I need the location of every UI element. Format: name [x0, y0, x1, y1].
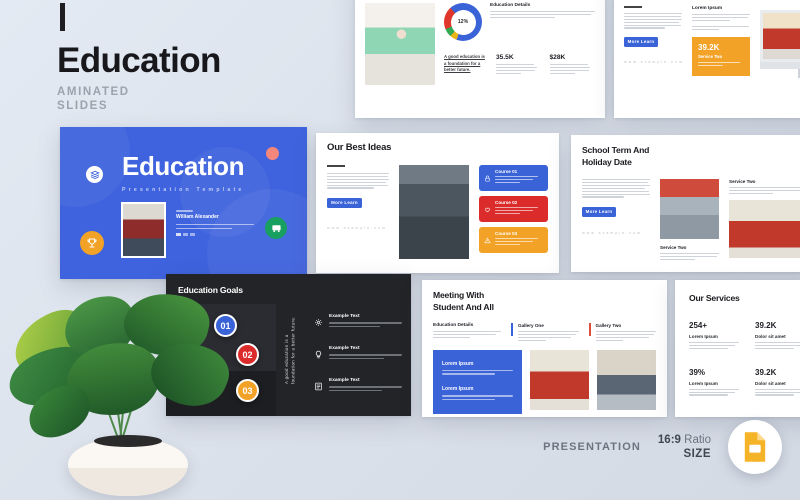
course-label: Course 03: [495, 231, 543, 236]
school-term-photo: [660, 179, 719, 239]
school-term-service-text: [660, 253, 719, 260]
school-term-service-text: [729, 187, 800, 194]
best-ideas-title: Our Best Ideas: [327, 142, 548, 153]
overview-stat-text: [496, 64, 542, 74]
overview-stat-text: [550, 64, 596, 74]
headline-subtitle: AMINATED SLIDES: [57, 85, 221, 114]
course-label: Course 02: [495, 200, 543, 205]
meeting-title-line1: Meeting With: [433, 290, 484, 300]
best-ideas-body: [327, 173, 389, 189]
goal-number-value: 02: [242, 350, 252, 360]
service-stat: 254+ Lorem Ipsum: [689, 321, 739, 351]
digital-device-highlight-value: 39.2K: [698, 43, 744, 52]
service-stat-value: 39.2K: [755, 321, 800, 330]
service-stat-text: [689, 389, 739, 396]
meeting-blue-item-label: Lorem Ipsum: [442, 361, 513, 367]
meeting-blue-item-text: [442, 370, 513, 375]
service-stat: 39.2K Dolor sit amet: [755, 368, 800, 398]
ratio-value: 16:9: [658, 434, 681, 446]
page-title: Education AMINATED SLIDES: [57, 3, 221, 114]
digital-device-highlight-text: [698, 62, 744, 66]
google-slides-icon[interactable]: [728, 420, 782, 474]
goal-item-label: Example Text: [329, 346, 402, 351]
gallery-one-accent: [511, 323, 513, 336]
hero-author-name: William Alexander: [176, 214, 254, 220]
hero-subtitle: Presentation Template: [122, 187, 244, 193]
overview-details-heading: Education Details: [490, 3, 595, 8]
service-stat-label: Lorem Ipsum: [689, 334, 739, 339]
meeting-gallery-photo-two: [597, 350, 656, 410]
digital-device-www: www.example.com: [624, 60, 682, 64]
school-term-photo-secondary: [729, 200, 800, 258]
service-stat-label: Dolor sit amet: [755, 381, 800, 386]
service-stat-text: [755, 389, 800, 396]
overview-details-text: [490, 11, 595, 18]
education-goals-vertical-text: A good education is a foundation for a b…: [284, 314, 297, 384]
goal-item-text: [329, 354, 402, 359]
monitor-stand-icon: [760, 62, 800, 69]
headline-title: Education: [57, 43, 221, 78]
gallery-two-accent: [589, 323, 591, 336]
hero-bus-icon: [265, 217, 287, 239]
meeting-blue-item-text: [442, 395, 513, 400]
service-stat-value: 254+: [689, 321, 739, 330]
hero-title: Education: [122, 151, 244, 182]
headline-subtitle-line2: SLIDES: [57, 100, 108, 112]
overview-photo: [365, 3, 435, 85]
service-stat-text: [755, 342, 800, 349]
hero-author-bio: [176, 224, 254, 229]
our-services-title: Our Services: [689, 293, 800, 303]
school-term-www: www.example.com: [582, 231, 650, 235]
overview-stat-value: $28K: [550, 54, 596, 61]
hero-author-photo: [121, 202, 166, 258]
digital-device-body: [624, 13, 682, 29]
overview-quote: A good education is a foundation for a b…: [444, 54, 488, 74]
digital-device-highlight-box: 39.2K Service Two: [692, 37, 750, 76]
goal-item-label: Example Text: [329, 378, 402, 383]
meeting-blue-item-label: Lorem Ipsum: [442, 386, 513, 392]
course-card[interactable]: Course 02: [479, 196, 548, 222]
alert-icon: [484, 231, 491, 249]
service-stat: 39.2K Dolor sit amet: [755, 321, 800, 351]
headline-subtitle-line1: AMINATED: [57, 86, 130, 98]
goal-number-badge[interactable]: 02: [236, 343, 259, 366]
service-stat-value: 39%: [689, 368, 739, 377]
best-ideas-photo: [399, 165, 469, 259]
school-term-title-line2: Holiday Date: [582, 157, 632, 167]
school-term-title-line1: School Term And: [582, 145, 649, 155]
digital-device-highlight-label: Service Two: [698, 54, 744, 59]
course-text: [495, 176, 543, 183]
best-ideas-www: www.example.com: [327, 226, 389, 230]
plant-pot: [68, 438, 188, 496]
school-term-service-label: Service Two: [660, 245, 719, 250]
heart-icon: [484, 200, 491, 218]
slide-best-ideas[interactable]: Our Best Ideas More Learn www.example.co…: [316, 133, 559, 273]
digital-device-section-body: [692, 14, 750, 21]
lock-icon: [484, 169, 491, 187]
course-text: [495, 238, 543, 245]
service-stat-label: Lorem Ipsum: [689, 381, 739, 386]
school-term-title: School Term And Holiday Date: [582, 145, 800, 168]
overview-donut-label: 12%: [458, 19, 468, 25]
hero-author-role: [176, 210, 254, 212]
slide-hero[interactable]: Education Presentation Template William …: [60, 127, 307, 279]
slide-overview[interactable]: Overview 12% Education Details: [355, 0, 605, 118]
gallery-two-label: Gallery Two: [596, 323, 657, 328]
slide-school-term[interactable]: School Term And Holiday Date More Learn …: [571, 135, 800, 272]
course-text: [495, 207, 543, 214]
overview-donut-chart: 12%: [444, 3, 482, 41]
course-label: Course 01: [495, 169, 543, 174]
best-ideas-more-button[interactable]: More Learn: [327, 198, 362, 208]
slide-our-services[interactable]: Our Services 254+ Lorem Ipsum 39.2K Dolo…: [675, 280, 800, 417]
hero-dot-decoration: [266, 147, 279, 160]
service-stat-label: Dolor sit amet: [755, 334, 800, 339]
ratio-word: Ratio: [684, 434, 711, 446]
slide-digital-device[interactable]: Digital Device More Learn www.example.co…: [614, 0, 800, 118]
digital-device-monitor-screen: [760, 10, 800, 62]
meeting-details-heading: Education Details: [433, 323, 501, 328]
service-stat: 39% Lorem Ipsum: [689, 368, 739, 398]
goal-item[interactable]: Example Text: [314, 314, 402, 332]
presentation-label: PRESENTATION: [543, 441, 641, 453]
digital-device-section-heading: Lorem Ipsum: [692, 6, 750, 11]
bulb-icon: [314, 346, 323, 364]
poster-stage: Education AMINATED SLIDES Overview 12% E…: [0, 0, 800, 500]
goal-item[interactable]: Example Text: [314, 346, 402, 364]
overview-stat-value: 35.5K: [496, 54, 542, 61]
school-term-service-label: Service Two: [729, 179, 800, 184]
school-term-more-button[interactable]: More Learn: [582, 207, 616, 217]
plant-decoration: [6, 291, 236, 500]
hero-author-dots: [176, 233, 254, 236]
school-term-body: [582, 179, 650, 197]
size-label: SIZE: [658, 447, 711, 461]
meeting-title-line2: Student And All: [433, 302, 494, 312]
slide-meeting[interactable]: Meeting With Student And All Education D…: [422, 280, 667, 417]
meeting-title: Meeting With Student And All: [433, 290, 656, 313]
course-card[interactable]: Course 01: [479, 165, 548, 191]
goal-item[interactable]: Example Text: [314, 378, 402, 396]
gallery-one-label: Gallery One: [518, 323, 579, 328]
gear-icon: [314, 314, 323, 332]
footer-bar: PRESENTATION 16:9 Ratio SIZE: [543, 420, 782, 474]
note-icon: [314, 378, 323, 396]
service-stat-value: 39.2K: [755, 368, 800, 377]
digital-device-section-body2: [692, 26, 750, 30]
gallery-one-text: [518, 331, 579, 341]
goal-item-label: Example Text: [329, 314, 402, 319]
title-accent-bar: [60, 3, 65, 31]
goal-number-value: 03: [242, 386, 252, 396]
gallery-two-text: [596, 331, 657, 341]
ratio-info: 16:9 Ratio SIZE: [658, 433, 711, 462]
meeting-details-text: [433, 331, 501, 338]
course-card[interactable]: Course 03: [479, 227, 548, 253]
digital-device-more-button[interactable]: More Learn: [624, 37, 658, 47]
hero-book-icon: [86, 166, 103, 183]
hero-trophy-icon: [80, 231, 104, 255]
meeting-blue-panel: Lorem Ipsum Lorem Ipsum: [433, 350, 522, 414]
digital-device-rule: [624, 6, 642, 8]
meeting-gallery-photo-one: [530, 350, 589, 410]
service-stat-text: [689, 342, 739, 349]
goal-item-text: [329, 386, 402, 391]
best-ideas-rule: [327, 165, 345, 167]
goal-item-text: [329, 322, 402, 327]
goal-number-badge[interactable]: 03: [236, 379, 259, 402]
